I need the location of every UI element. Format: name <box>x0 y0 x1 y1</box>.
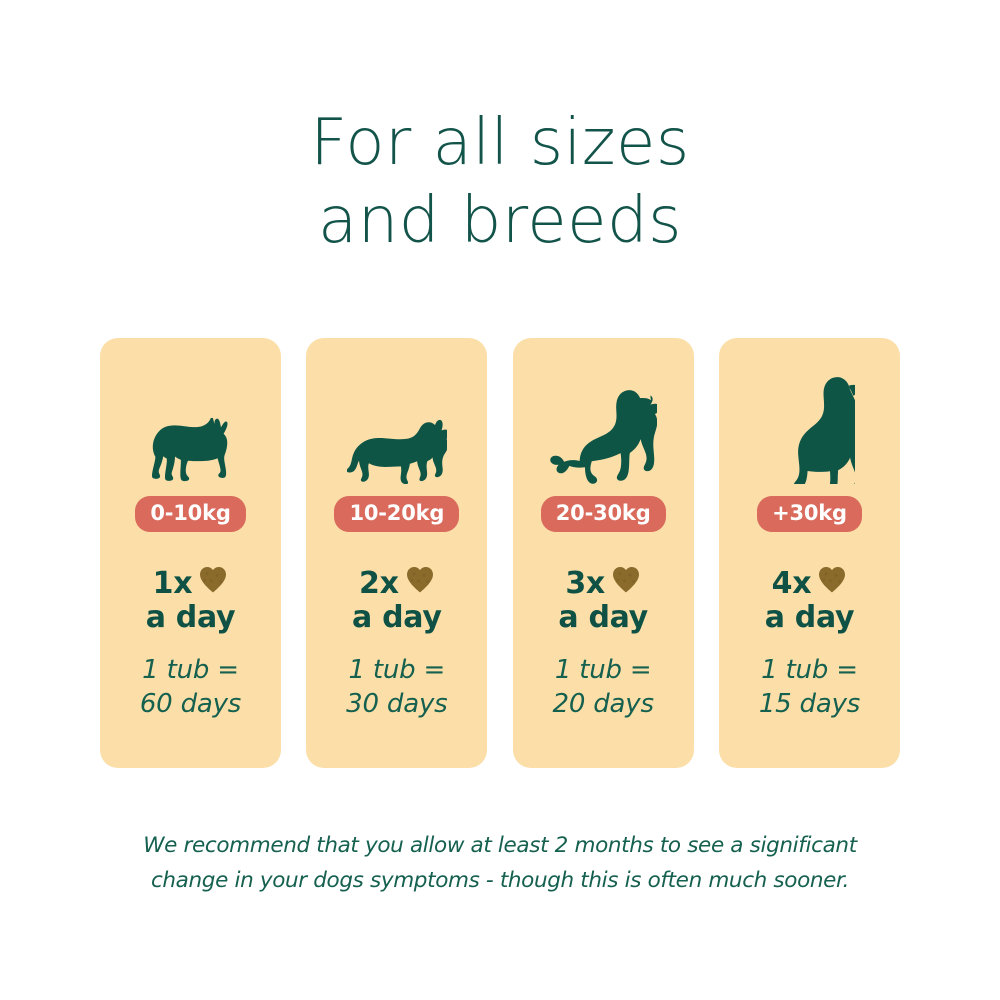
tub-duration: 1 tub = 30 days <box>346 653 447 721</box>
dose-text: 2x a day <box>352 566 442 635</box>
title-line-1: For all sizes <box>0 104 1000 182</box>
dose-period: a day <box>146 601 236 635</box>
dose-period: a day <box>765 601 855 635</box>
tub-line-2: 30 days <box>346 687 447 721</box>
size-card-20-30kg: 20-30kg 3x a day 1 tub = 20 days <box>513 338 694 768</box>
tub-line-1: 1 tub = <box>346 653 447 687</box>
dose-text: 1x a day <box>146 566 236 635</box>
page-title: For all sizes and breeds <box>0 104 1000 260</box>
dose-text: 4x a day <box>765 566 855 635</box>
weight-badge: +30kg <box>757 496 862 532</box>
heart-treat-icon <box>817 566 847 601</box>
size-cards-row: 0-10kg 1x a day 1 tub = 60 days <box>100 338 900 768</box>
weight-badge: 0-10kg <box>135 496 245 532</box>
size-card-0-10kg: 0-10kg 1x a day 1 tub = 60 days <box>100 338 281 768</box>
retriever-sitting-icon <box>523 338 683 488</box>
french-bulldog-standing-icon <box>111 338 271 488</box>
heart-treat-icon <box>198 566 228 601</box>
tub-duration: 1 tub = 60 days <box>140 653 241 721</box>
heart-treat-icon <box>405 566 435 601</box>
tub-line-2: 60 days <box>140 687 241 721</box>
dose-count: 3x <box>565 567 605 601</box>
dose-count: 1x <box>153 567 193 601</box>
dose-text: 3x a day <box>558 566 648 635</box>
infographic-poster: For all sizes and breeds 0-10kg 1x <box>0 0 1000 1000</box>
dose-period: a day <box>558 601 648 635</box>
tub-line-1: 1 tub = <box>140 653 241 687</box>
dose-count: 2x <box>359 567 399 601</box>
large-dog-sitting-icon <box>729 338 889 488</box>
tub-duration: 1 tub = 20 days <box>552 653 653 721</box>
weight-badge: 10-20kg <box>334 496 459 532</box>
size-card-plus-30kg: +30kg 4x a day 1 tub = 15 days <box>719 338 900 768</box>
tub-line-1: 1 tub = <box>552 653 653 687</box>
title-line-2: and breeds <box>0 182 1000 260</box>
dose-count: 4x <box>772 567 812 601</box>
footer-line-1: We recommend that you allow at least 2 m… <box>100 828 900 863</box>
tub-line-1: 1 tub = <box>759 653 860 687</box>
weight-badge: 20-30kg <box>541 496 666 532</box>
footer-disclaimer: We recommend that you allow at least 2 m… <box>100 828 900 898</box>
size-card-10-20kg: 10-20kg 2x a day 1 tub = 30 days <box>306 338 487 768</box>
footer-line-2: change in your dogs symptoms - though th… <box>100 863 900 898</box>
tub-duration: 1 tub = 15 days <box>759 653 860 721</box>
tub-line-2: 15 days <box>759 687 860 721</box>
heart-treat-icon <box>611 566 641 601</box>
tub-line-2: 20 days <box>552 687 653 721</box>
dose-period: a day <box>352 601 442 635</box>
spaniel-standing-icon <box>317 338 477 488</box>
